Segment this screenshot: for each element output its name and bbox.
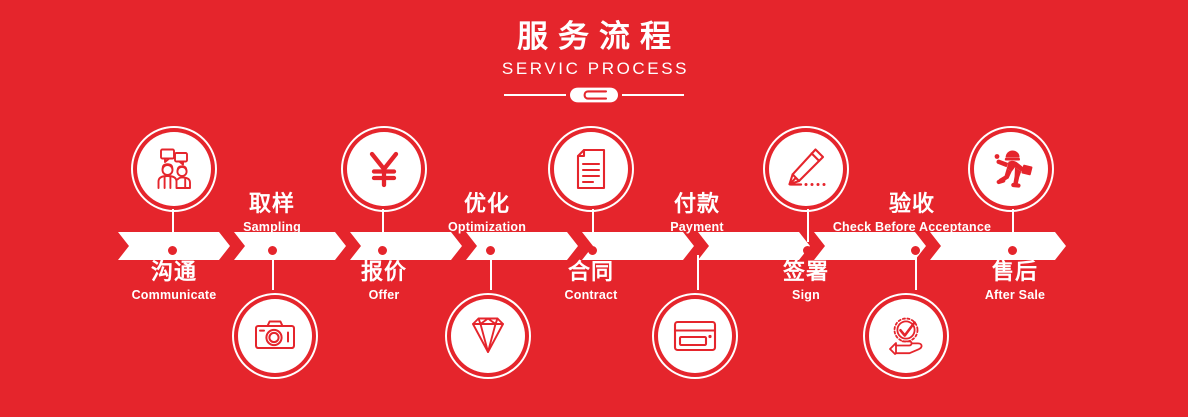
credit-card-icon <box>671 312 719 360</box>
step-label-cn: 付款 <box>587 192 807 217</box>
step-node-dot <box>486 246 495 255</box>
step-node-dot <box>378 246 387 255</box>
step-label-cn: 取样 <box>162 192 382 217</box>
paperclip-icon <box>560 87 628 103</box>
step-node-dot <box>168 246 177 255</box>
step-label-en: Sign <box>696 287 916 303</box>
icon-ring-inner <box>451 299 525 373</box>
arrow-segment <box>698 232 810 260</box>
page-title-cn: 服务流程 <box>0 20 1188 54</box>
step-label-cn: 优化 <box>377 192 597 217</box>
step-label-acceptance: 验收 Check Before Acceptance <box>802 192 1022 236</box>
arrow-segment <box>814 232 926 260</box>
step-label-cn: 报价 <box>274 260 494 285</box>
step-node-dot <box>1008 246 1017 255</box>
camera-icon <box>251 312 299 360</box>
step-label-en: Optimization <box>377 219 597 235</box>
service-process-banner: 服务流程 SERVIC PROCESS <box>0 0 1188 417</box>
step-label-en: Payment <box>587 219 807 235</box>
step-icon-sampling[interactable] <box>232 293 318 379</box>
step-node-dot <box>693 246 702 255</box>
step-label-cn: 签署 <box>696 260 916 285</box>
delivery-runner-icon <box>986 144 1036 194</box>
step-label-cn: 沟通 <box>64 260 284 285</box>
step-label-communicate: 沟通 Communicate <box>64 260 284 304</box>
step-label-en: Offer <box>274 287 494 303</box>
step-label-en: Communicate <box>64 287 284 303</box>
step-label-en: Check Before Acceptance <box>802 219 1022 235</box>
step-label-offer: 报价 Offer <box>274 260 494 304</box>
step-node-dot <box>588 246 597 255</box>
title-divider <box>504 87 684 103</box>
header-block: 服务流程 SERVIC PROCESS <box>0 20 1188 103</box>
divider-line-right <box>622 94 684 96</box>
step-label-en: Sampling <box>162 219 382 235</box>
step-label-sampling: 取样 Sampling <box>162 192 382 236</box>
step-icon-payment[interactable] <box>652 293 738 379</box>
icon-ring-inner <box>869 299 943 373</box>
step-label-cn: 合同 <box>481 260 701 285</box>
arrow-segment <box>582 232 694 260</box>
hand-check-icon <box>882 312 930 360</box>
step-label-optimization: 优化 Optimization <box>377 192 597 236</box>
icon-ring-inner <box>238 299 312 373</box>
step-label-contract: 合同 Contract <box>481 260 701 304</box>
step-node-dot <box>268 246 277 255</box>
arrow-segment <box>466 232 578 260</box>
step-icon-optimization[interactable] <box>445 293 531 379</box>
step-label-en: Contract <box>481 287 701 303</box>
pencil-sign-icon <box>782 145 830 193</box>
step-label-en: After Sale <box>905 287 1125 303</box>
people-communicate-icon <box>150 145 198 193</box>
document-icon <box>567 145 615 193</box>
yen-currency-icon <box>360 145 408 193</box>
arrow-segment <box>350 232 462 260</box>
divider-line-left <box>504 94 566 96</box>
diamond-icon <box>464 312 512 360</box>
step-icon-acceptance[interactable] <box>863 293 949 379</box>
step-label-cn: 验收 <box>802 192 1022 217</box>
step-node-dot <box>803 246 812 255</box>
page-title-en: SERVIC PROCESS <box>0 59 1188 79</box>
step-label-payment: 付款 Payment <box>587 192 807 236</box>
step-node-dot <box>911 246 920 255</box>
step-label-sign: 签署 Sign <box>696 260 916 304</box>
step-label-after-sale: 售后 After Sale <box>905 260 1125 304</box>
icon-ring-inner <box>658 299 732 373</box>
arrow-segment <box>234 232 346 260</box>
step-label-cn: 售后 <box>905 260 1125 285</box>
arrow-segment <box>930 232 1066 260</box>
